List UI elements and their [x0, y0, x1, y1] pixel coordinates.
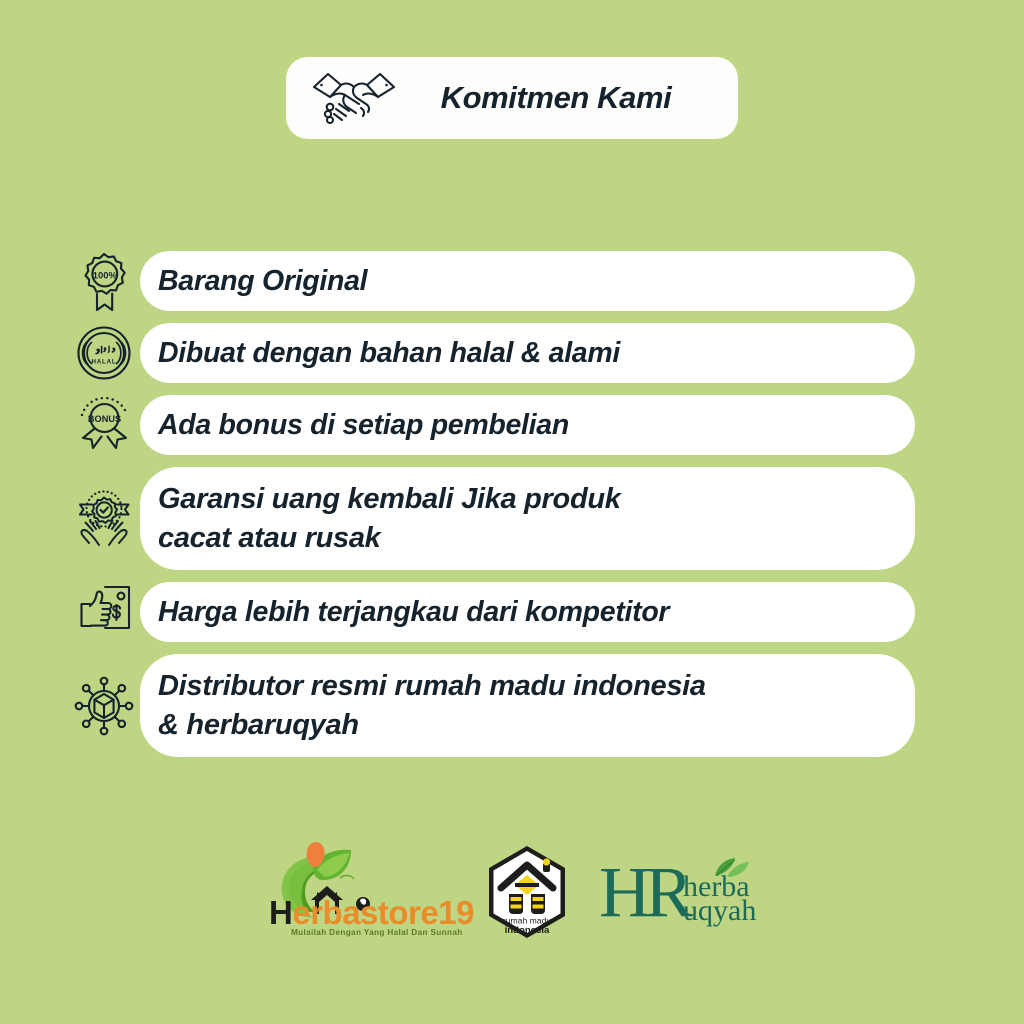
- svg-text:BONUS: BONUS: [88, 414, 121, 424]
- svg-text:HALAL: HALAL: [92, 359, 117, 366]
- commitment-item: Distributor resmi rumah madu indonesia &…: [0, 653, 1024, 758]
- halal-certificate-icon: HALAL: [72, 321, 136, 385]
- commitment-card: Barang Original: [140, 251, 915, 311]
- commitment-card: Dibuat dengan bahan halal & alami: [140, 323, 915, 383]
- commitment-item: BONUS Ada bonus di setiap pembelian: [0, 394, 1024, 456]
- commitment-card: Harga lebih terjangkau dari kompetitor: [140, 582, 915, 642]
- commitment-label: Garansi uang kembali Jika produk cacat a…: [158, 480, 621, 558]
- bonus-ribbon-badge-icon: BONUS: [72, 393, 136, 457]
- commitment-label: Ada bonus di setiap pembelian: [158, 406, 569, 444]
- herbastore19-wordmark: Herbastore19: [269, 894, 455, 932]
- footer-logos: Herbastore19 Mulailah Dengan Yang Halal …: [0, 832, 1024, 952]
- money-back-guarantee-hands-icon: [72, 487, 136, 551]
- commitment-list: 100% Barang Original: [0, 250, 1024, 768]
- commitment-item: HALAL Dibuat dengan bahan halal & alami: [0, 322, 1024, 384]
- commitment-card: Distributor resmi rumah madu indonesia &…: [140, 654, 915, 757]
- herba-ruqyah-line2: uqyah: [683, 896, 756, 926]
- herba-ruqyah-logo: HR herba uqyah: [599, 850, 769, 934]
- svg-text:100%: 100%: [93, 270, 118, 281]
- rumah-madu-line1: rumah madu: [503, 916, 551, 926]
- rumah-madu-line2: indonesia: [505, 925, 550, 936]
- commitment-card: Ada bonus di setiap pembelian: [140, 395, 915, 455]
- commitment-label: Harga lebih terjangkau dari kompetitor: [158, 593, 669, 631]
- commitment-label: Barang Original: [158, 262, 367, 300]
- commitment-item: Garansi uang kembali Jika produk cacat a…: [0, 466, 1024, 571]
- handshake-icon: [308, 68, 400, 128]
- herbastore19-logo: Herbastore19 Mulailah Dengan Yang Halal …: [255, 842, 455, 942]
- herbastore19-initial: H: [269, 894, 292, 931]
- commitment-card: Garansi uang kembali Jika produk cacat a…: [140, 467, 915, 570]
- commitment-item: 100% Barang Original: [0, 250, 1024, 312]
- commitment-label: Distributor resmi rumah madu indonesia &…: [158, 667, 706, 745]
- herbastore19-brand-rest: erbastore19: [292, 894, 474, 931]
- header-card: Komitmen Kami: [286, 57, 738, 139]
- badge-100-percent-icon: 100%: [72, 249, 136, 313]
- herbastore19-tagline: Mulailah Dengan Yang Halal Dan Sunnah: [291, 928, 463, 937]
- page-title: Komitmen Kami: [400, 80, 738, 116]
- rumah-madu-indonesia-logo: rumah madu indonesia: [479, 844, 575, 940]
- commitment-label: Dibuat dengan bahan halal & alami: [158, 334, 620, 372]
- distribution-network-box-icon: [72, 674, 136, 738]
- commitment-item: Harga lebih terjangkau dari kompetitor: [0, 581, 1024, 643]
- herba-ruqyah-monogram: HR: [599, 856, 687, 928]
- rumah-madu-hexagon-mark: rumah madu indonesia: [479, 844, 575, 940]
- thumbs-up-price-tag-icon: [72, 580, 136, 644]
